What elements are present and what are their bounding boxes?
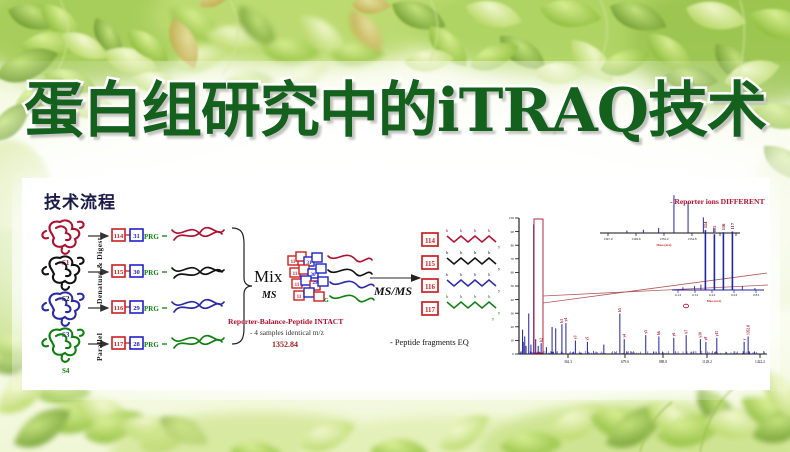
inset-xtick: 1352.2	[659, 237, 668, 241]
ytick: 90	[511, 230, 515, 234]
reporter-inset-marker	[683, 304, 688, 308]
precursor-highlight-box	[534, 219, 543, 353]
reporter-box-label: 115	[425, 260, 436, 268]
sample-blob-s1: S1	[42, 220, 83, 267]
itraq-tag-row-2: 115 30 PRG	[112, 265, 167, 277]
sample-blob-s4: S4	[42, 328, 83, 375]
reporter-box-label: 117	[425, 306, 436, 314]
mix-label: Mix	[254, 267, 283, 286]
inset-xtick: 1349.6	[631, 237, 640, 241]
intact-mass: 1352.84	[272, 340, 298, 349]
svg-text:b: b	[446, 294, 449, 299]
xtick: 888.8	[659, 360, 667, 364]
xtick: 1128.2	[702, 360, 712, 364]
reporter-peak-label: 115	[712, 225, 717, 232]
reporter-label: 116	[114, 305, 124, 312]
svg-text:b: b	[474, 228, 477, 233]
peak-label: y4	[622, 334, 626, 338]
peak-label: y3	[574, 335, 578, 339]
spectrum-peaks	[520, 224, 765, 354]
ytick: 10	[511, 339, 515, 343]
svg-text:y: y	[498, 244, 501, 249]
reporter-peak-label: 117	[730, 222, 735, 229]
reporter-box-label: 114	[425, 237, 436, 245]
svg-text:b: b	[446, 272, 449, 277]
svg-text:b: b	[446, 250, 449, 255]
peak-label: y10	[699, 332, 703, 338]
reporter-inset-peak-labels: 114115116117	[703, 221, 735, 232]
reporter-box-label: 116	[425, 283, 436, 291]
xtick: 362.3	[564, 360, 572, 364]
svg-text:30: 30	[311, 273, 317, 278]
mixed-peptide-cluster: 11 31 11 30 11 29 11 G	[288, 252, 374, 304]
reporter-inset-title: - Reporter ions DIFFERENT	[670, 197, 765, 206]
peak-label: b5	[618, 308, 622, 312]
svg-text:31: 31	[307, 261, 313, 266]
svg-text:b: b	[474, 272, 477, 277]
svg-text:b: b	[446, 228, 449, 233]
reporter-label: 117	[114, 341, 124, 348]
prg-label: PRG	[144, 341, 159, 349]
prg-label: PRG	[144, 305, 159, 313]
step-label-parallel: Parallel	[95, 333, 104, 361]
peptide-fragment-chains: bb bb y bb bb y bb	[446, 228, 501, 321]
svg-text:b: b	[488, 294, 491, 299]
ytick: 50	[511, 284, 515, 288]
prg-label: PRG	[144, 269, 159, 277]
reporter-xtick: 113.0	[692, 293, 699, 297]
peak-label: y5	[586, 337, 590, 341]
sample-blob-s2: S2	[42, 256, 83, 303]
peak-label: y	[742, 338, 746, 340]
pooling-brace	[232, 228, 252, 344]
ytick: 60	[511, 271, 515, 275]
ytick: 70	[511, 257, 515, 261]
ytick: 20	[511, 325, 515, 329]
balance-label: 29	[133, 305, 140, 312]
svg-text:b: b	[474, 250, 477, 255]
itraq-workflow-diagram: S1 S2	[22, 178, 770, 390]
reporter-xtick: 112.0	[675, 293, 682, 297]
svg-text:y: y	[498, 310, 501, 315]
svg-text:b: b	[460, 272, 463, 277]
peak-label: b6	[657, 331, 661, 335]
svg-text:b: b	[488, 250, 491, 255]
peak-label: y6	[672, 333, 676, 337]
inset-xtick: 1347.0	[603, 237, 612, 241]
svg-text:S4: S4	[62, 367, 70, 375]
svg-text:y: y	[498, 288, 501, 293]
fragments-note: - Peptide fragments EQ	[390, 338, 469, 347]
xtick: 1422.2	[755, 360, 765, 364]
svg-text:b: b	[474, 294, 477, 299]
svg-text:b: b	[488, 228, 491, 233]
peak-label: y4	[564, 318, 568, 322]
peak-label: y11	[715, 331, 719, 336]
msms-label: MS/MS	[373, 284, 412, 298]
svg-text:11: 11	[291, 260, 296, 265]
labeled-peptides	[172, 228, 224, 348]
ytick: 100	[509, 216, 514, 220]
reporter-xtick: 118.0	[753, 293, 760, 297]
itraq-tag-row-1: 114 31 PRG	[112, 229, 167, 241]
svg-text:G: G	[324, 298, 329, 304]
itraq-tag-row-4: 117 28 PRG	[112, 337, 167, 349]
inset-xtick: 1354.8	[687, 237, 696, 241]
reporter-boxes-column: 114 115 116 117	[422, 233, 438, 315]
inset-axis-label: Mass (m/z)	[657, 243, 672, 247]
intact-note-line2: - 4 samples identical m/z	[250, 328, 325, 337]
svg-text:b: b	[460, 228, 463, 233]
peak-label: 1352.8	[746, 325, 750, 335]
balance-label: 28	[133, 341, 140, 348]
svg-text:29: 29	[313, 281, 319, 286]
peak-label: y9	[704, 337, 708, 341]
svg-text:b: b	[460, 294, 463, 299]
step-label-denature-digest: Denature & Digest	[95, 237, 104, 304]
ytick: 30	[511, 311, 515, 315]
peak-label: b7	[684, 330, 688, 334]
svg-text:11: 11	[297, 295, 302, 300]
reporter-xtick: 114.0	[709, 293, 716, 297]
balance-label: 31	[133, 233, 140, 240]
itraq-tag-row-3: 116 29 PRG	[112, 301, 167, 313]
slide-canvas: 蛋白组研究中的iTRAQ技术 技术流程	[0, 0, 790, 452]
peak-label: y5	[644, 330, 648, 334]
reporter-inset-chart: - Reporter ions DIFFERENT 112.0 113.0 11…	[670, 197, 765, 308]
slide-title-container: 蛋白组研究中的iTRAQ技术	[0, 80, 790, 142]
svg-text:b: b	[460, 250, 463, 255]
balance-label: 30	[133, 269, 140, 276]
ms-label: MS	[261, 290, 277, 301]
reporter-peak-label: 114	[703, 221, 708, 228]
svg-text:y: y	[498, 266, 501, 271]
reporter-peak-label: 116	[721, 223, 726, 230]
reporter-xtick: 116.0	[731, 293, 738, 297]
reporter-label: 115	[114, 269, 124, 276]
spectrum-peak-labels: b2b3y4y3y5b5y4y5b6y6b7y10y9y11y1352.8	[539, 308, 750, 342]
inset-leader-line-1	[543, 273, 767, 303]
sample-blob-s3: S3	[42, 292, 83, 339]
prg-label: PRG	[144, 233, 159, 241]
svg-text:11: 11	[295, 283, 300, 288]
svg-text:11: 11	[293, 272, 298, 277]
ytick: 0	[512, 352, 514, 356]
ytick: 40	[511, 298, 515, 302]
reporter-label: 114	[114, 233, 124, 240]
svg-text:b: b	[488, 272, 491, 277]
xtick: 679.6	[621, 360, 629, 364]
content-panel: 技术流程	[22, 178, 770, 390]
svg-text:y: y	[492, 316, 495, 321]
slide-title: 蛋白组研究中的iTRAQ技术	[24, 80, 766, 142]
reporter-axis-label: Mass (m/z)	[707, 299, 722, 303]
intact-note-line1: Reporter-Balance-Peptide INTACT	[228, 317, 343, 326]
ytick: 80	[511, 243, 515, 247]
